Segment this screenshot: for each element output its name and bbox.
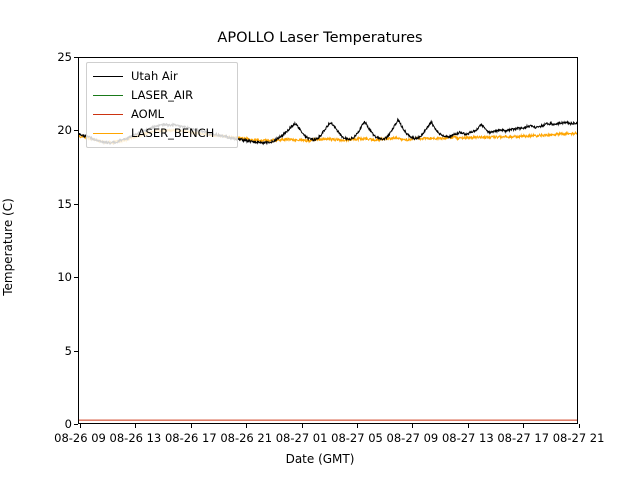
legend-line-swatch <box>93 114 123 115</box>
legend-item-aoml[interactable]: AOML <box>93 105 231 124</box>
x-axis-tick-mark <box>357 424 358 428</box>
y-axis-tick-label: 0 <box>65 417 72 431</box>
x-axis-tick-mark <box>302 424 303 428</box>
x-axis-tick-label: 08-27 01 <box>276 431 328 445</box>
legend-item-laser-air[interactable]: LASER_AIR <box>93 86 231 105</box>
x-axis-tick-label: 08-26 09 <box>54 431 106 445</box>
y-axis-tick-label: 15 <box>57 197 72 211</box>
y-axis-tick-mark <box>74 424 78 425</box>
legend-line-swatch <box>93 133 123 134</box>
x-axis-tick-label: 08-27 21 <box>553 431 605 445</box>
y-axis-tick-label: 5 <box>65 344 72 358</box>
y-axis-label: Temperature (C) <box>1 97 15 397</box>
legend: Utah AirLASER_AIRAOMLLASER_BENCH <box>86 62 238 148</box>
x-axis-tick-mark <box>191 424 192 428</box>
x-axis-tick-mark <box>468 424 469 428</box>
x-axis-tick-label: 08-27 17 <box>497 431 549 445</box>
x-axis-tick-mark <box>523 424 524 428</box>
legend-item-label: LASER_BENCH <box>131 128 214 140</box>
legend-line-swatch <box>93 95 123 96</box>
x-axis-tick-label: 08-27 09 <box>387 431 439 445</box>
y-axis-tick-mark <box>74 57 78 58</box>
y-axis-tick-mark <box>74 351 78 352</box>
legend-item-utah-air[interactable]: Utah Air <box>93 67 231 86</box>
x-axis-tick-mark <box>80 424 81 428</box>
legend-item-label: AOML <box>131 109 164 121</box>
y-axis-tick-label: 10 <box>57 270 72 284</box>
x-axis-tick-mark <box>135 424 136 428</box>
x-axis-tick-mark <box>579 424 580 428</box>
figure-canvas: APOLLO Laser Temperatures 0510152025 Tem… <box>0 0 640 480</box>
legend-line-swatch <box>93 76 123 77</box>
y-axis-tick-label: 20 <box>57 123 72 137</box>
page-title: APOLLO Laser Temperatures <box>0 30 640 46</box>
y-axis-tick-mark <box>74 204 78 205</box>
legend-item-laser-bench[interactable]: LASER_BENCH <box>93 124 231 143</box>
x-axis-tick-mark <box>412 424 413 428</box>
y-axis-tick-mark <box>74 277 78 278</box>
y-axis-tick-mark <box>74 130 78 131</box>
x-axis-tick-mark <box>246 424 247 428</box>
x-axis-tick-label: 08-26 17 <box>165 431 217 445</box>
x-axis-label: Date (GMT) <box>0 452 640 466</box>
x-axis-tick-label: 08-26 13 <box>110 431 162 445</box>
x-axis-tick-label: 08-27 13 <box>442 431 494 445</box>
legend-item-label: Utah Air <box>131 71 178 83</box>
y-axis-tick-label: 25 <box>57 50 72 64</box>
x-axis-tick-label: 08-26 21 <box>220 431 272 445</box>
x-axis-tick-label: 08-27 05 <box>331 431 383 445</box>
legend-item-label: LASER_AIR <box>131 90 193 102</box>
